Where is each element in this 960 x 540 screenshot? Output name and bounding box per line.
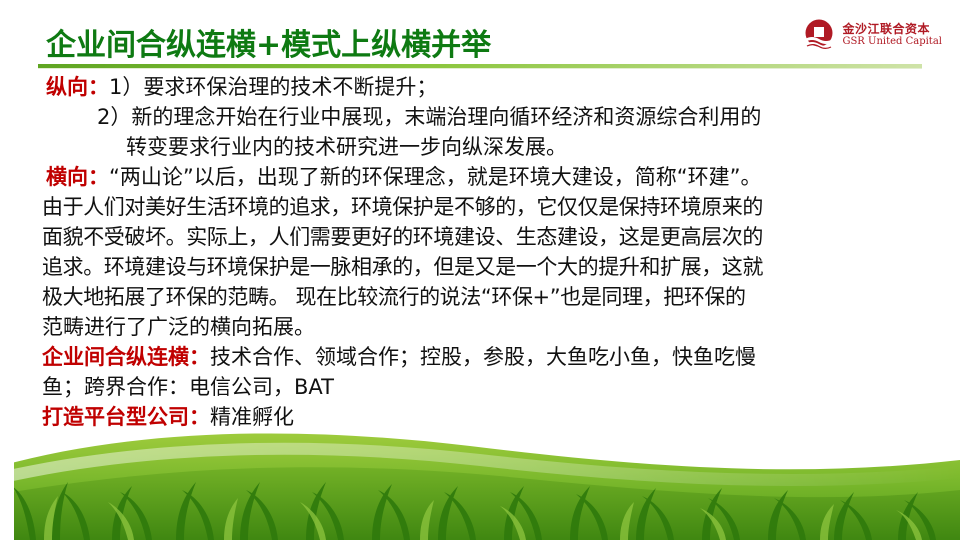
alliance-line-2: 鱼；跨界合作：电信公司，BAT [42,375,334,399]
gsr-circle-wave-logo-icon [802,18,836,52]
vertical-label: 纵向： [46,75,109,99]
company-logo: 金沙江联合资本 GSR United Capital [802,18,942,52]
vertical-item-2-line: 2）新的理念开始在行业中展现，末端治理向循环经济和资源综合利用的 [0,102,960,132]
alliance-line-1: 技术合作、领域合作；控股，参股，大鱼吃小鱼，快鱼吃慢 [210,345,756,369]
horizontal-line-4-row: 追求。环境建设与环境保护是一脉相承的，但是又是一个大的提升和扩展，这就 [0,252,960,282]
left-margin-strip [0,0,14,540]
vertical-item-2: 2）新的理念开始在行业中展现，末端治理向循环经济和资源综合利用的 [97,105,761,129]
alliance-section-line-1: 企业间合纵连横：技术合作、领域合作；控股，参股，大鱼吃小鱼，快鱼吃慢 [0,342,960,372]
horizontal-section-line-1: 横向：“两山论”以后，出现了新的环保理念，就是环境大建设，简称“环建”。 [0,162,960,192]
alliance-label: 企业间合纵连横： [42,345,210,369]
horizontal-line-3-row: 面貌不受破坏。实际上，人们需要更好的环境建设、生态建设，这是更高层次的 [0,222,960,252]
horizontal-line-2: 由于人们对美好生活环境的追求，环境保护是不够的，它仅仅是保持环境原来的 [42,195,763,219]
horizontal-line-5: 极大地拓展了环保的范畴。 现在比较流行的说法“环保+”也是同理，把环保的 [42,285,746,309]
horizontal-line-4: 追求。环境建设与环境保护是一脉相承的，但是又是一个大的提升和扩展，这就 [42,255,763,279]
vertical-item-2-cont: 转变要求行业内的技术研究进一步向纵深发展。 [126,135,567,159]
horizontal-line-5-row: 极大地拓展了环保的范畴。 现在比较流行的说法“环保+”也是同理，把环保的 [0,282,960,312]
slide-canvas: 企业间合纵连横+模式上纵横并举 金沙江联合资本 GSR United Capit… [0,0,960,540]
horizontal-line-3: 面貌不受破坏。实际上，人们需要更好的环境建设、生态建设，这是更高层次的 [42,225,763,249]
slide-body: 纵向：1）要求环保治理的技术不断提升； 2）新的理念开始在行业中展现，末端治理向… [0,72,960,432]
alliance-section-line-2: 鱼；跨界合作：电信公司，BAT [0,372,960,402]
horizontal-label: 横向： [46,165,109,189]
slide-header: 企业间合纵连横+模式上纵横并举 金沙江联合资本 GSR United Capit… [0,0,960,70]
horizontal-line-2-row: 由于人们对美好生活环境的追求，环境保护是不够的，它仅仅是保持环境原来的 [0,192,960,222]
horizontal-line-6-row: 范畴进行了广泛的横向拓展。 [0,312,960,342]
decorative-grass-footer [0,420,960,540]
page-title: 企业间合纵连横+模式上纵横并举 [46,20,491,64]
title-underline-rule-thin [38,68,922,69]
logo-wordmark: 金沙江联合资本 GSR United Capital [842,23,942,47]
horizontal-line-1: “两山论”以后，出现了新的环保理念，就是环境大建设，简称“环建”。 [109,165,762,189]
horizontal-line-6: 范畴进行了广泛的横向拓展。 [42,315,315,339]
vertical-item-1: 1）要求环保治理的技术不断提升； [109,75,437,99]
logo-english-name: GSR United Capital [842,36,942,47]
logo-chinese-name: 金沙江联合资本 [842,23,942,36]
vertical-item-2-cont-line: 转变要求行业内的技术研究进一步向纵深发展。 [0,132,960,162]
vertical-section-line-1: 纵向：1）要求环保治理的技术不断提升； [0,72,960,102]
